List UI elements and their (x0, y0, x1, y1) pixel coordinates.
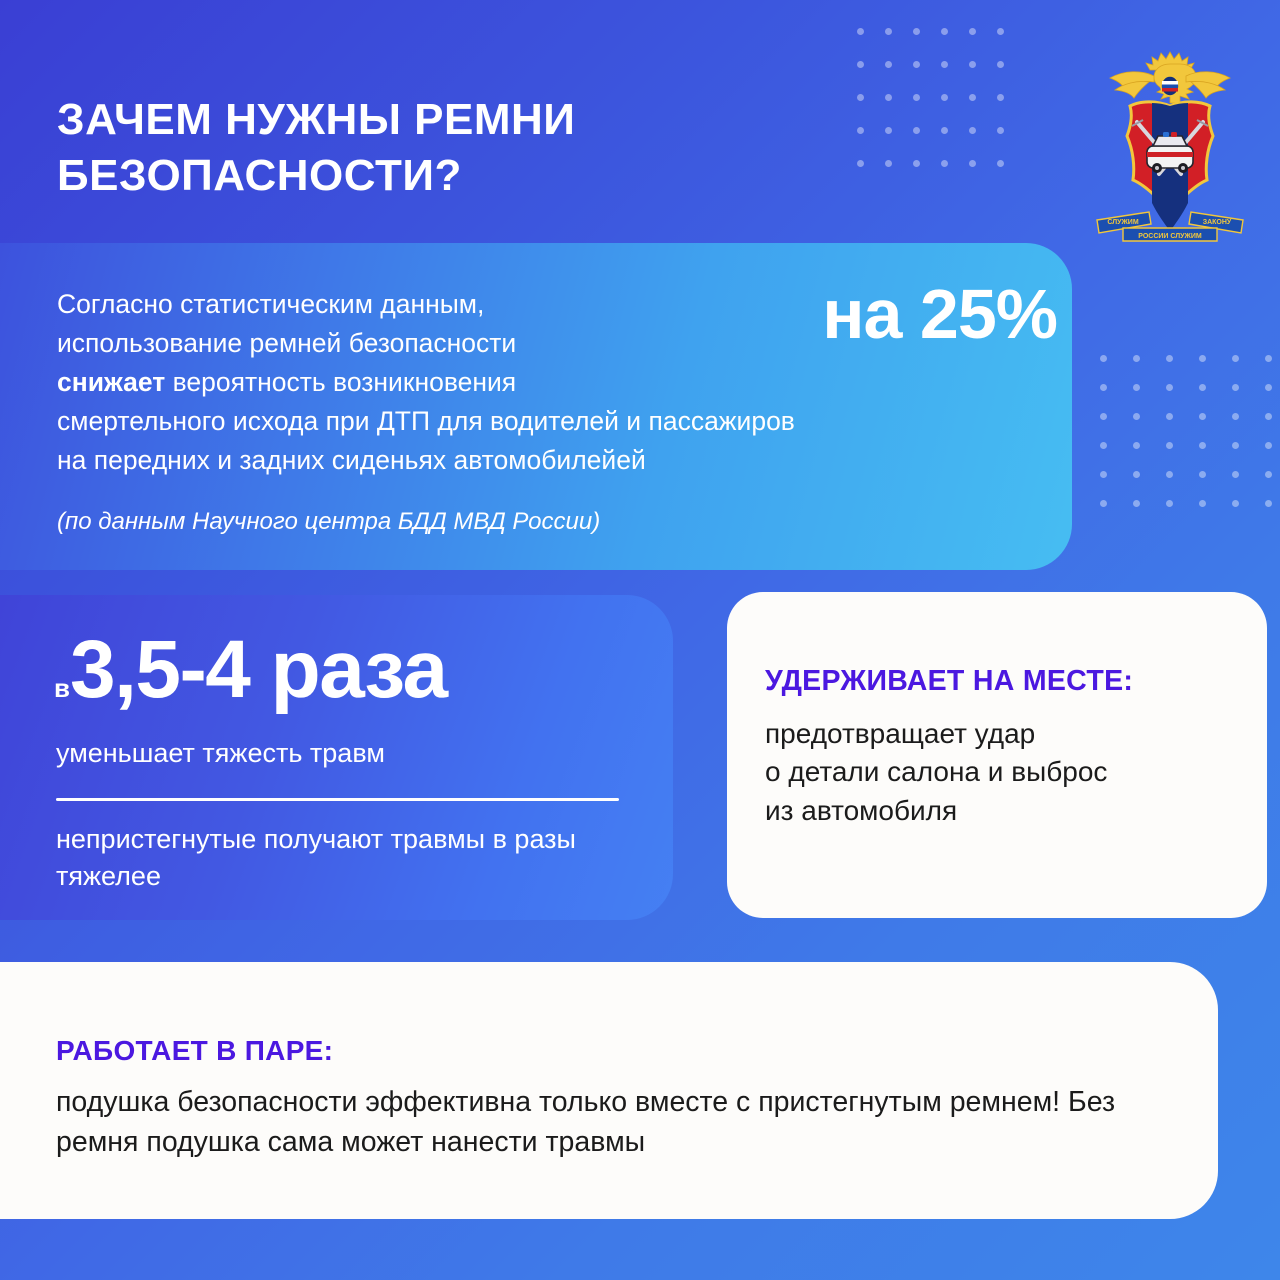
works-in-pair-body: подушка безопасности эффективна только в… (56, 1082, 1176, 1163)
emblem-ribbon-right: ЗАКОНУ (1203, 219, 1232, 226)
works-in-pair-card: РАБОТАЕТ В ПАРЕ: подушка безопасности эф… (0, 962, 1218, 1219)
dot (1265, 471, 1272, 478)
dot (1199, 355, 1206, 362)
dot (1166, 471, 1173, 478)
dot (1232, 442, 1239, 449)
dot (1166, 384, 1173, 391)
statistics-line-5: на передних и задних сиденьях автомобиле… (57, 445, 646, 475)
dot (1199, 442, 1206, 449)
severity-note: непристегнутые получают травмы в разы тя… (56, 821, 636, 894)
statistics-paragraph: на 25% Согласно статистическим данным, и… (57, 285, 1057, 480)
emblem-ribbon-center: РОССИИ СЛУЖИМ (1138, 233, 1202, 240)
dot (1166, 413, 1173, 420)
dot (1100, 413, 1107, 420)
dot (1100, 471, 1107, 478)
dot (1166, 442, 1173, 449)
statistics-line-4: смертельного исхода при ДТП для водителе… (57, 406, 795, 436)
dot (1166, 500, 1173, 507)
statistics-source-note: (по данным Научного центра БДД МВД Росси… (57, 506, 600, 537)
works-in-pair-title: РАБОТАЕТ В ПАРЕ: (56, 1035, 333, 1067)
dot (1133, 471, 1140, 478)
dot (1232, 355, 1239, 362)
dot (1199, 384, 1206, 391)
severity-subtitle: уменьшает тяжесть травм (56, 735, 385, 771)
dot (1133, 500, 1140, 507)
statistic-highlight-value: на 25% (822, 279, 1057, 349)
dot (1232, 384, 1239, 391)
dot (1133, 442, 1140, 449)
dot (1133, 355, 1140, 362)
severity-divider (56, 798, 619, 801)
dot (1199, 413, 1206, 420)
dot (1100, 384, 1107, 391)
severity-value: 3,5-4 раза (70, 624, 447, 715)
statistics-bold-word: снижает (57, 367, 165, 397)
holds-in-place-card: УДЕРЖИВАЕТ НА МЕСТЕ: предотвращает удар … (727, 592, 1267, 918)
dot (1100, 500, 1107, 507)
dot (1199, 500, 1206, 507)
dot (1232, 471, 1239, 478)
infographic-poster: ЗАЧЕМ НУЖНЫ РЕМНИ БЕЗОПАСНОСТИ? (0, 0, 1280, 1280)
page-title: ЗАЧЕМ НУЖНЫ РЕМНИ БЕЗОПАСНОСТИ? (57, 92, 777, 205)
emblem-ribbon-left: СЛУЖИМ (1107, 219, 1139, 226)
dot (1133, 413, 1140, 420)
dot-grid-pattern-right (1100, 355, 1280, 529)
dot (1265, 384, 1272, 391)
dot (1265, 355, 1272, 362)
dot (1265, 500, 1272, 507)
dot (1232, 413, 1239, 420)
holds-in-place-title: УДЕРЖИВАЕТ НА МЕСТЕ: (765, 665, 1133, 698)
mvd-emblem-icon: СЛУЖИМ РОССИИ СЛУЖИМ ЗАКОНУ (1085, 34, 1255, 249)
statistics-line-2: использование ремней безопасности (57, 328, 516, 358)
dot (1133, 384, 1140, 391)
dot (1100, 442, 1107, 449)
dot (1265, 413, 1272, 420)
severity-headline: в3,5-4 раза (54, 623, 447, 717)
injury-severity-card: в3,5-4 раза уменьшает тяжесть травм непр… (0, 595, 673, 920)
dot (1232, 500, 1239, 507)
dot (1100, 355, 1107, 362)
dot (1166, 355, 1173, 362)
severity-prefix: в (54, 673, 70, 703)
holds-line-3: из автомобиля (765, 795, 957, 826)
statistics-line-3: вероятность возникновения (165, 367, 516, 397)
holds-in-place-body: предотвращает удар о детали салона и выб… (765, 715, 1235, 830)
dot (1265, 442, 1272, 449)
holds-line-1: предотвращает удар (765, 718, 1035, 749)
statistics-line-1: Согласно статистическим данным, (57, 289, 484, 319)
statistics-card: на 25% Согласно статистическим данным, и… (0, 243, 1072, 570)
dot (1199, 471, 1206, 478)
holds-line-2: о детали салона и выброс (765, 756, 1107, 787)
